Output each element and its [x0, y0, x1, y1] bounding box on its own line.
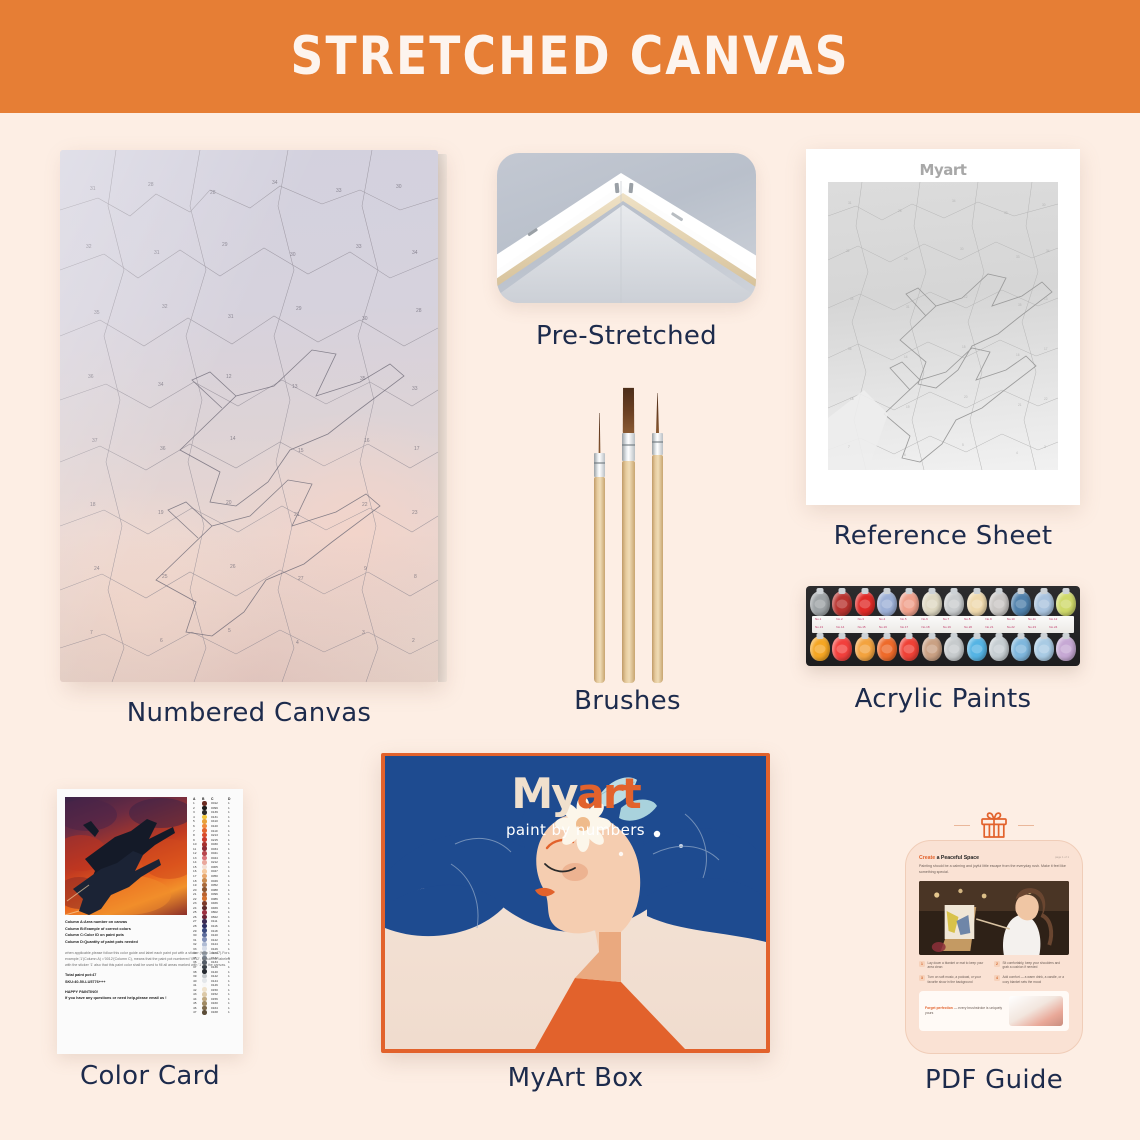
paint-label: No.10: [1007, 617, 1015, 621]
svg-text:12: 12: [964, 295, 968, 299]
cc-quantity: 1: [228, 810, 236, 814]
cc-color-id: 0088: [211, 888, 228, 892]
reference-outline-art: 312834 3330 322930 3334 353112 3513 3614…: [828, 182, 1058, 470]
paint-pot: [1034, 591, 1054, 616]
reference-sheet-paper: Myart: [806, 149, 1080, 505]
cc-color-id: 0410: [211, 819, 228, 823]
pdf-guide-item[interactable]: Create a Peaceful Space page 1 of 1 Pain…: [905, 810, 1083, 1054]
svg-text:5: 5: [962, 443, 964, 447]
pdf-tip-text: Lay down a blanket or mat to keep your a…: [928, 961, 991, 971]
paint-pot: [1011, 636, 1031, 661]
paint-label: No.19: [943, 625, 951, 629]
svg-text:13: 13: [1044, 297, 1048, 301]
color-card-artwork: [65, 797, 187, 915]
paint-label: No.21: [985, 625, 993, 629]
cc-color-id: 0213: [211, 833, 228, 837]
cc-area-number: 11: [193, 847, 202, 851]
paint-label: No.15: [858, 625, 866, 629]
cc-color-id: 0044: [211, 856, 228, 860]
cc-quantity: 1: [228, 847, 236, 851]
paint-pot: [944, 636, 964, 661]
paint-label: No.8: [964, 617, 970, 621]
reference-sheet-caption: Reference Sheet: [806, 521, 1080, 551]
happy-painting: HAPPY PAINTING!: [65, 990, 98, 994]
paint-pot-row-bottom: [810, 636, 1076, 663]
color-card-caption: Color Card: [19, 1061, 281, 1091]
pdf-guide-card: Create a Peaceful Space page 1 of 1 Pain…: [905, 840, 1083, 1054]
cc-area-number: 22: [193, 897, 202, 901]
logo-my-text: My: [511, 769, 576, 818]
cc-color-id: 0086: [211, 897, 228, 901]
pdf-tips-list: 1Lay down a blanket or mat to keep your …: [919, 961, 1069, 991]
paint-pot: [922, 591, 942, 616]
cc-area-number: 6: [193, 824, 202, 828]
svg-text:17: 17: [1044, 347, 1048, 351]
cc-quantity: 1: [228, 801, 236, 805]
cc-color-id: 0110: [211, 829, 228, 833]
reference-sheet-item[interactable]: Myart: [806, 149, 1080, 505]
cc-color-id: 0052: [211, 883, 228, 887]
svg-text:33: 33: [1016, 255, 1020, 259]
brush-liner: [652, 393, 663, 683]
paint-pot: [1034, 636, 1054, 661]
pdf-heading-rest: a Peaceful Space: [935, 855, 979, 861]
myart-tagline: paint by numbers: [385, 821, 766, 839]
svg-text:7: 7: [848, 445, 850, 449]
svg-text:21: 21: [1018, 403, 1022, 407]
paint-tray-label-strip: No.1No.13No.2No.14No.3No.15No.4No.16No.5…: [812, 616, 1074, 633]
paint-label: No.6: [922, 617, 928, 621]
reference-sheet-image: 312834 3330 322930 3334 353112 3513 3614…: [828, 182, 1058, 470]
pdf-tip-number: 4: [994, 975, 1000, 981]
cc-area-number: 10: [193, 842, 202, 846]
numbered-canvas-caption: Numbered Canvas: [60, 698, 438, 728]
pdf-tip-number: 3: [919, 975, 925, 981]
legend-line-d: Column D:Quantity of paint pots needed: [65, 940, 138, 944]
svg-text:29: 29: [904, 257, 908, 261]
myart-logo: Myart paint by numbers: [385, 773, 766, 839]
myart-box-item[interactable]: Myart paint by numbers MyArt Box: [381, 753, 770, 1053]
cc-quantity: 1: [228, 829, 236, 833]
cc-area-number: 47: [193, 1010, 202, 1014]
paint-label: No.17: [900, 625, 908, 629]
paint-label: No.4: [879, 617, 885, 621]
paint-pot: [944, 591, 964, 616]
paint-pot-row-top: [810, 591, 1076, 618]
cc-color-swatch: [202, 1010, 207, 1015]
paint-tray: No.1No.13No.2No.14No.3No.15No.4No.16No.5…: [806, 586, 1080, 666]
cc-color-id: 0466: [211, 901, 228, 905]
brush-flat: [622, 386, 635, 683]
svg-text:22: 22: [1044, 397, 1048, 401]
paint-pot: [877, 591, 897, 616]
paint-pot: [899, 636, 919, 661]
cc-quantity: 1: [228, 888, 236, 892]
divider-right: [1018, 825, 1034, 826]
svg-text:18: 18: [850, 397, 854, 401]
cc-quantity: 1: [228, 806, 236, 810]
paint-label: No.12: [1049, 617, 1057, 621]
cc-color-id: 0096: [211, 892, 228, 896]
cc-quantity: 1: [228, 865, 236, 869]
canvas-lighting: [60, 150, 438, 682]
paint-label: No.23: [1028, 625, 1036, 629]
color-card-instructions: when applicable,please follow this color…: [65, 950, 235, 969]
box-edge: Myart paint by numbers: [381, 753, 770, 1053]
svg-text:32: 32: [846, 249, 850, 253]
paint-pot: [1056, 591, 1076, 616]
paint-label: No.2: [836, 617, 842, 621]
color-card-row: 4701681: [193, 1010, 237, 1015]
cc-quantity: 1: [228, 869, 236, 873]
total-paint-pot: Total paint pot:47: [65, 973, 96, 977]
brushes-caption: Brushes: [530, 686, 725, 716]
cc-quantity: 1: [228, 824, 236, 828]
cc-quantity: 1: [228, 874, 236, 878]
cc-quantity: 1: [228, 906, 236, 910]
cc-color-id: 0041: [211, 851, 228, 855]
pdf-note: Forget perfection — every brushstroke is…: [919, 991, 1069, 1031]
brush-detail-round: [594, 413, 605, 683]
cc-area-number: 15: [193, 865, 202, 869]
paint-pot: [989, 636, 1009, 661]
paint-pot: [855, 636, 875, 661]
pre-stretched-item[interactable]: Pre-Stretched: [497, 153, 756, 303]
svg-text:19: 19: [906, 405, 910, 409]
svg-text:15: 15: [962, 345, 966, 349]
pdf-hero-photo: [919, 881, 1069, 955]
cc-quantity: 1: [228, 910, 236, 914]
cc-area-number: 13: [193, 856, 202, 860]
pdf-tip-text: Sit comfortably, keep your shoulders and…: [1003, 961, 1066, 971]
cc-color-id: 0050: [211, 874, 228, 878]
svg-text:30: 30: [1042, 203, 1046, 207]
paint-pot: [922, 636, 942, 661]
cc-color-id: 0802: [211, 910, 228, 914]
cc-quantity: 1: [228, 856, 236, 860]
cc-color-id: 0030: [211, 842, 228, 846]
cc-color-id: 0164: [211, 1006, 228, 1010]
cc-quantity: 1: [228, 860, 236, 864]
svg-text:4: 4: [1016, 451, 1018, 455]
color-card-paper: A B C D 10012120099130139140131150410160…: [57, 789, 243, 1054]
paint-pot: [967, 636, 987, 661]
svg-text:14: 14: [904, 355, 908, 359]
cc-quantity: 1: [228, 883, 236, 887]
pdf-tip: 3Turn on soft music, a podcast, or your …: [919, 975, 994, 985]
svg-text:35: 35: [850, 297, 854, 301]
cc-area-number: 17: [193, 874, 202, 878]
cc-color-id: 0034: [211, 847, 228, 851]
svg-text:34: 34: [952, 199, 956, 203]
svg-text:16: 16: [1016, 353, 1020, 357]
cc-area-number: 12: [193, 851, 202, 855]
box-face: Myart paint by numbers: [385, 756, 766, 1049]
canvas-side-edge: [438, 154, 447, 682]
divider-left: [954, 825, 970, 826]
paint-label: No.20: [964, 625, 972, 629]
cc-area-number: 5: [193, 819, 202, 823]
cc-area-number: 9: [193, 838, 202, 842]
cc-quantity: 1: [228, 879, 236, 883]
paint-label: No.5: [900, 617, 906, 621]
paint-label: No.18: [922, 625, 930, 629]
cc-color-id: 0012: [211, 801, 228, 805]
svg-text:31: 31: [906, 305, 910, 309]
pdf-tip-number: 1: [919, 961, 925, 967]
pdf-note-image: [1009, 996, 1063, 1026]
cc-area-number: 20: [193, 888, 202, 892]
paint-pot: [877, 636, 897, 661]
pdf-tip: 1Lay down a blanket or mat to keep your …: [919, 961, 994, 971]
pdf-tip: 4Add comfort — a warm drink, a candle, o…: [994, 975, 1069, 985]
paint-label: No.24: [1049, 625, 1057, 629]
paint-label: No.16: [879, 625, 887, 629]
pdf-page-number: page 1 of 1: [1055, 855, 1069, 859]
cc-area-number: 1: [193, 801, 202, 805]
pdf-intro: Painting should be a calming and joyful …: [919, 864, 1069, 876]
paint-label: No.7: [943, 617, 949, 621]
logo-art-text: art: [577, 769, 640, 818]
acrylic-paints-item[interactable]: No.1No.13No.2No.14No.3No.15No.4No.16No.5…: [806, 586, 1080, 666]
cc-quantity: 1: [228, 838, 236, 842]
cc-area-number: 4: [193, 815, 202, 819]
cc-quantity: 1: [228, 897, 236, 901]
legend-line-a: Column A:Area number on canvas: [65, 920, 127, 924]
cc-swatch-cell: [202, 1010, 211, 1015]
paint-pot: [967, 591, 987, 616]
cc-area-number: 18: [193, 879, 202, 883]
paint-label: No.9: [985, 617, 991, 621]
cc-area-number: 24: [193, 906, 202, 910]
cc-area-number: 23: [193, 901, 202, 905]
canvas-face: 312828 343330 323129 303334 353231 29302…: [60, 150, 438, 682]
cc-quantity: 1: [228, 1006, 236, 1010]
pdf-tip-number: 2: [994, 961, 1000, 967]
cc-color-id: 0049: [211, 879, 228, 883]
svg-text:30: 30: [960, 247, 964, 251]
paint-label: No.14: [836, 625, 844, 629]
cc-area-number: 21: [193, 892, 202, 896]
paint-label: No.11: [1028, 617, 1036, 621]
reference-sheet-logo: Myart: [806, 161, 1080, 179]
paint-pot: [832, 591, 852, 616]
cc-area-number: 25: [193, 910, 202, 914]
cc-quantity: 1: [228, 1010, 236, 1014]
cc-quantity: 1: [228, 901, 236, 905]
pdf-guide-sheet: Create a Peaceful Space page 1 of 1 Pain…: [919, 855, 1069, 1037]
svg-text:35: 35: [1018, 303, 1022, 307]
paint-pot: [810, 636, 830, 661]
pre-stretched-photo: [497, 153, 756, 303]
gift-icon-row: [905, 810, 1083, 840]
page-header: STRETCHED CANVAS: [0, 0, 1140, 113]
myart-box-caption: MyArt Box: [381, 1063, 770, 1093]
cc-area-number: 2: [193, 806, 202, 810]
cc-area-number: 7: [193, 829, 202, 833]
paint-label: No.3: [858, 617, 864, 621]
cc-color-id: 0005: [211, 865, 228, 869]
cc-area-number: 46: [193, 1006, 202, 1010]
pdf-tip: 2Sit comfortably, keep your shoulders an…: [994, 961, 1069, 971]
pdf-note-text: Forget perfection — every brushstroke is…: [925, 1006, 1004, 1017]
cc-color-id: 0099: [211, 806, 228, 810]
gift-icon: [978, 810, 1010, 840]
svg-text:6: 6: [904, 453, 906, 457]
cc-quantity: 1: [228, 819, 236, 823]
cc-area-number: 16: [193, 869, 202, 873]
color-card-item[interactable]: A B C D 10012120099130139140131150410160…: [57, 789, 243, 1054]
sku-line: SKU:40-50-LU5776+++: [65, 980, 105, 984]
cc-color-id: 0469: [211, 906, 228, 910]
paint-pot: [1056, 636, 1076, 661]
svg-text:36: 36: [848, 347, 852, 351]
svg-text:28: 28: [898, 209, 902, 213]
acrylic-paints-caption: Acrylic Paints: [806, 684, 1080, 714]
brushes-item[interactable]: Brushes: [560, 378, 695, 683]
cc-color-id: 0168: [211, 1010, 228, 1014]
pdf-guide-caption: PDF Guide: [877, 1065, 1111, 1095]
cc-quantity: 1: [228, 842, 236, 846]
legend-line-c: Column C:Color ID on paint pots: [65, 933, 124, 937]
product-grid: 312828 343330 323129 303334 353231 29302…: [0, 113, 1140, 1140]
cc-color-id: 0047: [211, 869, 228, 873]
cc-quantity: 1: [228, 833, 236, 837]
svg-text:20: 20: [964, 395, 968, 399]
cc-area-number: 14: [193, 860, 202, 864]
svg-text:33: 33: [1004, 211, 1008, 215]
paint-pot: [810, 591, 830, 616]
canvas-corner-illustration: [497, 153, 756, 303]
cc-area-number: 8: [193, 833, 202, 837]
paint-pot: [989, 591, 1009, 616]
paint-label: No.22: [1007, 625, 1015, 629]
cc-color-id: 0139: [211, 810, 228, 814]
pre-stretched-caption: Pre-Stretched: [497, 321, 756, 351]
pdf-tip-text: Turn on soft music, a podcast, or your f…: [928, 975, 991, 985]
page-title: STRETCHED CANVAS: [290, 26, 849, 87]
pdf-heading-accent: Create: [919, 855, 935, 861]
cc-color-id: 0215: [211, 838, 228, 842]
cc-quantity: 1: [228, 815, 236, 819]
paint-pot: [832, 636, 852, 661]
cc-quantity: 1: [228, 851, 236, 855]
pdf-tip-text: Add comfort — a warm drink, a candle, or…: [1003, 975, 1066, 985]
svg-text:3: 3: [1044, 445, 1046, 449]
cc-area-number: 19: [193, 883, 202, 887]
cc-color-id: 0212: [211, 860, 228, 864]
paint-pot: [899, 591, 919, 616]
svg-text:31: 31: [848, 201, 852, 205]
svg-text:34: 34: [1046, 249, 1050, 253]
cc-area-number: 3: [193, 810, 202, 814]
contact-line: If you have any questions or need help,p…: [65, 996, 167, 1000]
paint-pot: [1011, 591, 1031, 616]
legend-line-b: Column B:Example of correct colors: [65, 927, 131, 931]
pdf-note-bold: Forget perfection: [925, 1006, 953, 1010]
numbered-canvas-item[interactable]: 312828 343330 323129 303334 353231 29302…: [60, 150, 438, 682]
paint-pot: [855, 591, 875, 616]
cc-color-id: 0120: [211, 824, 228, 828]
paint-label: No.1: [815, 617, 821, 621]
paint-label: No.13: [815, 625, 823, 629]
cc-color-id: 0131: [211, 815, 228, 819]
cc-quantity: 1: [228, 892, 236, 896]
pdf-heading: Create a Peaceful Space: [919, 855, 1069, 861]
color-card-instructions-block: Column A:Area number on canvas Column B:…: [65, 919, 235, 1002]
